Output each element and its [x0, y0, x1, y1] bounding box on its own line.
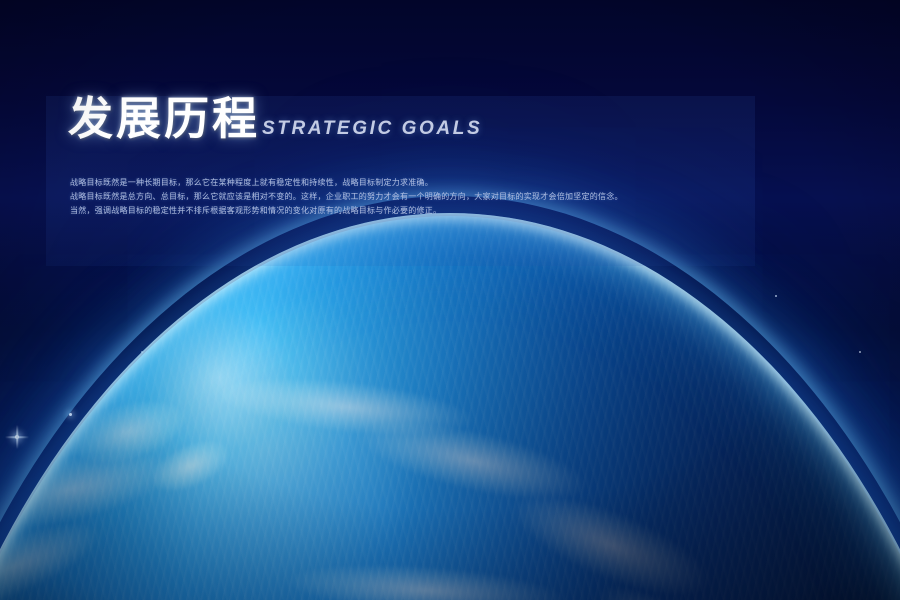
description-line-1: 战略目标既然是一种长期目标，那么它在某种程度上就有稳定性和持续性，战略目标制定力… — [70, 176, 786, 190]
description-line-2: 战略目标既然是总方向、总目标，那么它就应该是相对不变的。这样，企业职工的努力才会… — [70, 190, 786, 204]
description-line-3: 当然，强调战略目标的稳定性并不排斥根据客观形势和情况的变化对原有的战略目标与作必… — [70, 204, 786, 218]
page-subtitle: STRATEGIC GOALS — [262, 118, 482, 140]
hero-banner: 发展历程 STRATEGIC GOALS 战略目标既然是一种长期目标，那么它在某… — [0, 0, 900, 600]
page-title: 发展历程 — [68, 96, 260, 141]
description-block: 战略目标既然是一种长期目标，那么它在某种程度上就有稳定性和持续性，战略目标制定力… — [46, 176, 786, 218]
headline-content: 发展历程 STRATEGIC GOALS 战略目标既然是一种长期目标，那么它在某… — [46, 96, 786, 218]
title-row: 发展历程 STRATEGIC GOALS — [46, 96, 786, 158]
